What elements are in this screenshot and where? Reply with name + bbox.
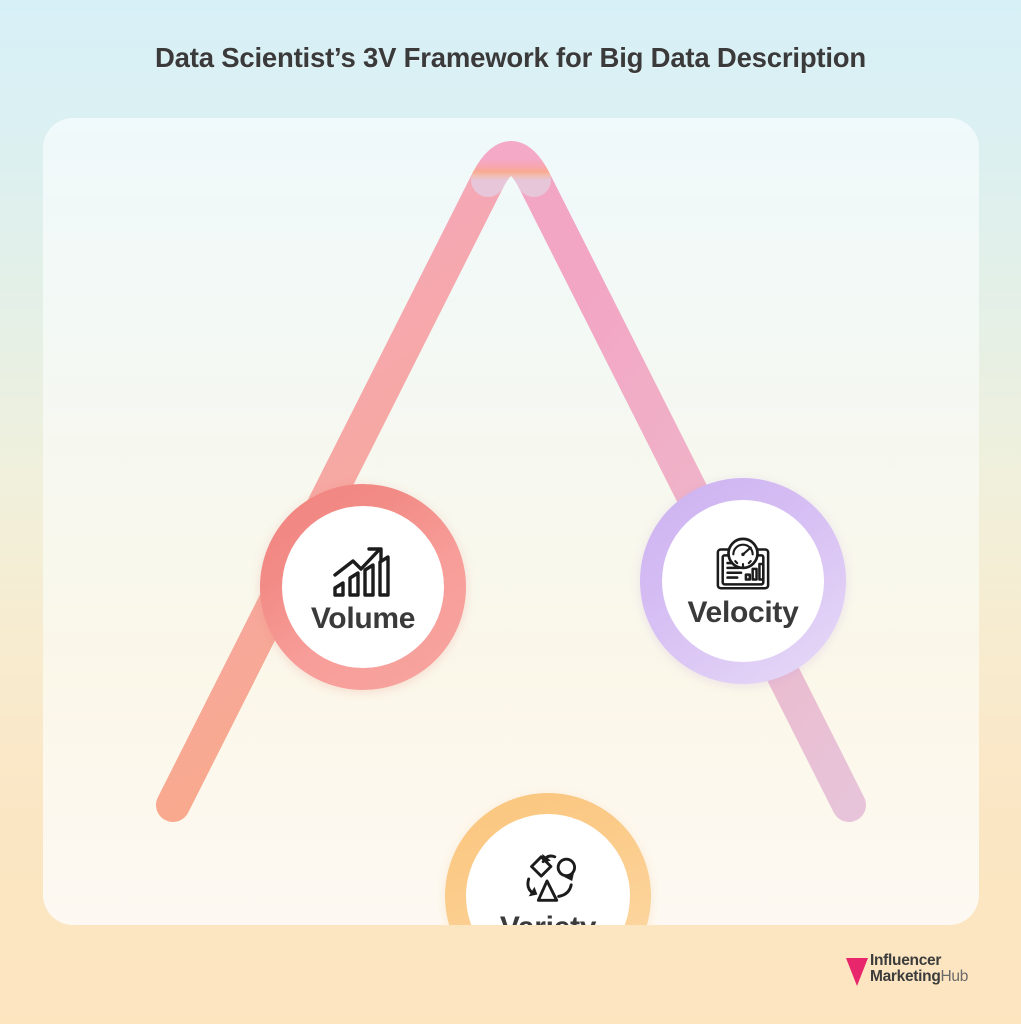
node-volume-label: Volume <box>311 604 415 634</box>
logo-line-influencer: Influencer <box>870 953 968 969</box>
node-volume[interactable]: Volume <box>260 484 466 690</box>
brand-logo[interactable]: Influencer MarketingHub <box>846 952 968 986</box>
node-variety-body: Variety <box>466 814 630 925</box>
node-velocity-label: Velocity <box>688 598 799 628</box>
shapes-cycle-icon <box>511 849 585 911</box>
node-velocity-body: Velocity <box>662 500 824 662</box>
diagram-card: Volume <box>43 118 979 925</box>
page-title: Data Scientist’s 3V Framework for Big Da… <box>0 42 1021 74</box>
logo-hub-text: Hub <box>941 968 969 985</box>
bar-chart-growth-icon <box>326 540 400 602</box>
logo-line-marketinghub: MarketingHub <box>870 969 968 985</box>
infographic-canvas: Data Scientist’s 3V Framework for Big Da… <box>0 0 1021 1024</box>
speedometer-dashboard-icon <box>706 534 780 596</box>
logo-wordmark: Influencer MarketingHub <box>870 953 968 985</box>
logo-marketing-text: Marketing <box>870 968 941 985</box>
node-variety-label: Variety <box>500 913 596 925</box>
node-volume-body: Volume <box>282 506 444 668</box>
node-velocity[interactable]: Velocity <box>640 478 846 684</box>
arrow-mark-icon <box>846 952 868 986</box>
